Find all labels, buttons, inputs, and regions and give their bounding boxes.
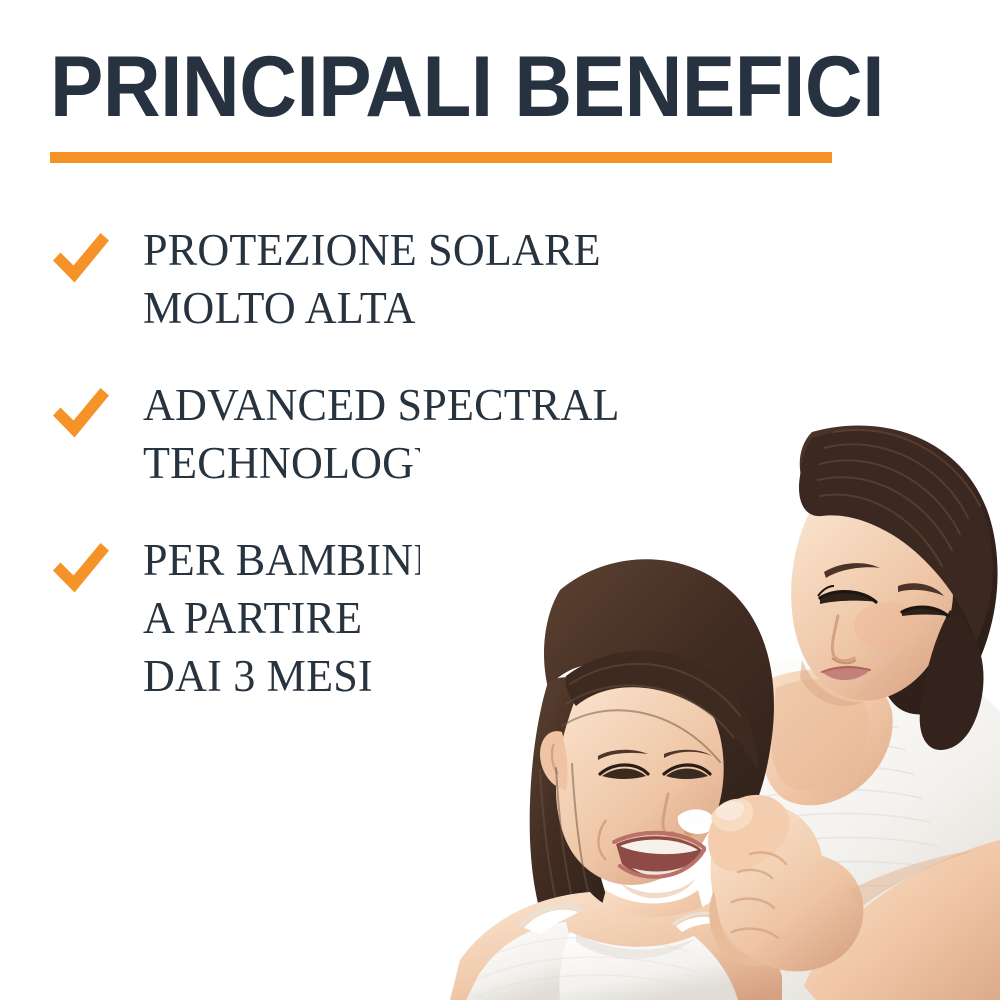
header-block: PRINCIPALI BENEFICI [50,46,840,129]
check-icon [50,385,112,441]
benefit-text-1: PROTEZIONE SOLARE MOLTO ALTA [143,222,601,337]
benefit-item-1: PROTEZIONE SOLARE MOLTO ALTA [50,222,750,337]
benefits-infographic: PRINCIPALI BENEFICI PROTEZIONE SOLARE MO… [0,0,1000,1000]
mother-applying-sunscreen-to-child-photo [420,420,1000,1000]
benefit-text-3: PER BAMBINI A PARTIRE DAI 3 MESI [143,532,428,705]
check-icon [50,230,112,286]
page-title: PRINCIPALI BENEFICI [50,46,785,129]
title-underline-rule [50,152,832,163]
check-icon [50,540,112,596]
